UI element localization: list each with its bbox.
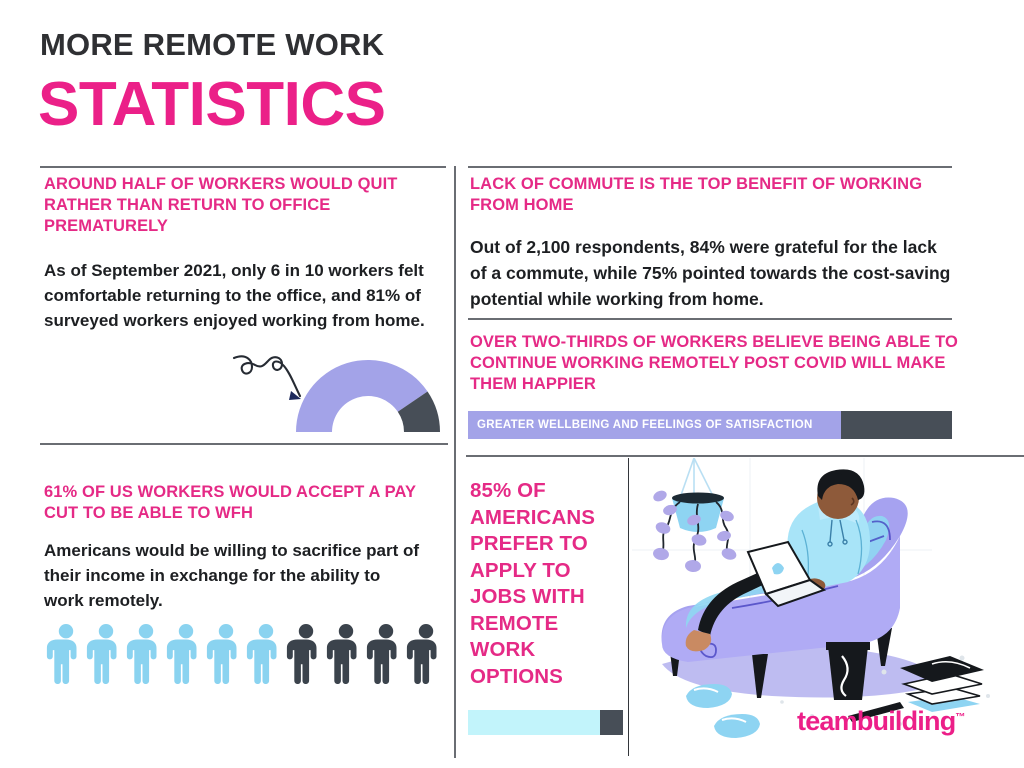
remote-preference-progress-bar xyxy=(468,710,623,735)
stat-heading-quit-rather-than-return: AROUND HALF OF WORKERS WOULD QUIT RATHER… xyxy=(44,174,444,237)
person-figure xyxy=(126,620,166,686)
logo-text: teambuilding xyxy=(797,706,955,736)
divider-vertical-illustration xyxy=(628,458,629,756)
stat-heading-pay-cut: 61% OF US WORKERS WOULD ACCEPT A PAY CUT… xyxy=(44,482,444,524)
stat-heading-prefer-remote-jobs: 85% OF AMERICANS PREFER TO APPLY TO JOBS… xyxy=(470,478,620,690)
stat-heading-lack-of-commute: LACK OF COMMUTE IS THE TOP BENEFIT OF WO… xyxy=(470,174,960,216)
stat-body-lack-of-commute: Out of 2,100 respondents, 84% were grate… xyxy=(470,234,958,312)
person-figure xyxy=(286,620,326,686)
person-figure xyxy=(406,620,446,686)
divider-right-middle xyxy=(468,318,952,320)
stat-body-quit-rather-than-return: As of September 2021, only 6 in 10 worke… xyxy=(44,258,436,333)
stat-body-pay-cut: Americans would be willing to sacrifice … xyxy=(44,538,424,613)
stat-heading-two-thirds-happier: OVER TWO-THIRDS OF WORKERS BELIEVE BEING… xyxy=(470,332,958,395)
wellbeing-progress-bar: GREATER WELLBEING AND FEELINGS OF SATISF… xyxy=(468,411,952,439)
remote-preference-progress-fill xyxy=(468,710,600,735)
person-figure xyxy=(206,620,246,686)
person-figure xyxy=(46,620,86,686)
wellbeing-progress-fill: GREATER WELLBEING AND FEELINGS OF SATISF… xyxy=(468,411,841,439)
hanging-plant-icon xyxy=(652,458,738,573)
header-kicker: MORE REMOTE WORK xyxy=(40,27,384,63)
divider-top-right xyxy=(468,166,952,168)
trademark-symbol: ™ xyxy=(955,712,965,723)
person-figure xyxy=(166,620,206,686)
person-figure xyxy=(326,620,366,686)
teambuilding-logo: teambuilding™ xyxy=(797,706,965,737)
person-working-from-home-illustration xyxy=(632,458,1024,748)
divider-left-middle xyxy=(40,443,448,445)
person-figure xyxy=(86,620,126,686)
gauge-chart-wfh-enjoyment xyxy=(288,352,448,438)
divider-top-left xyxy=(40,166,446,168)
person-figure xyxy=(246,620,286,686)
person-figure xyxy=(366,620,406,686)
wellbeing-progress-label: GREATER WELLBEING AND FEELINGS OF SATISF… xyxy=(477,419,813,431)
divider-right-lower xyxy=(466,455,1024,457)
people-pictogram-chart xyxy=(46,618,446,686)
divider-vertical-main xyxy=(454,166,456,758)
page-title: STATISTICS xyxy=(38,73,385,137)
infographic-canvas: MORE REMOTE WORK STATISTICS AROUND HALF … xyxy=(0,0,1024,768)
